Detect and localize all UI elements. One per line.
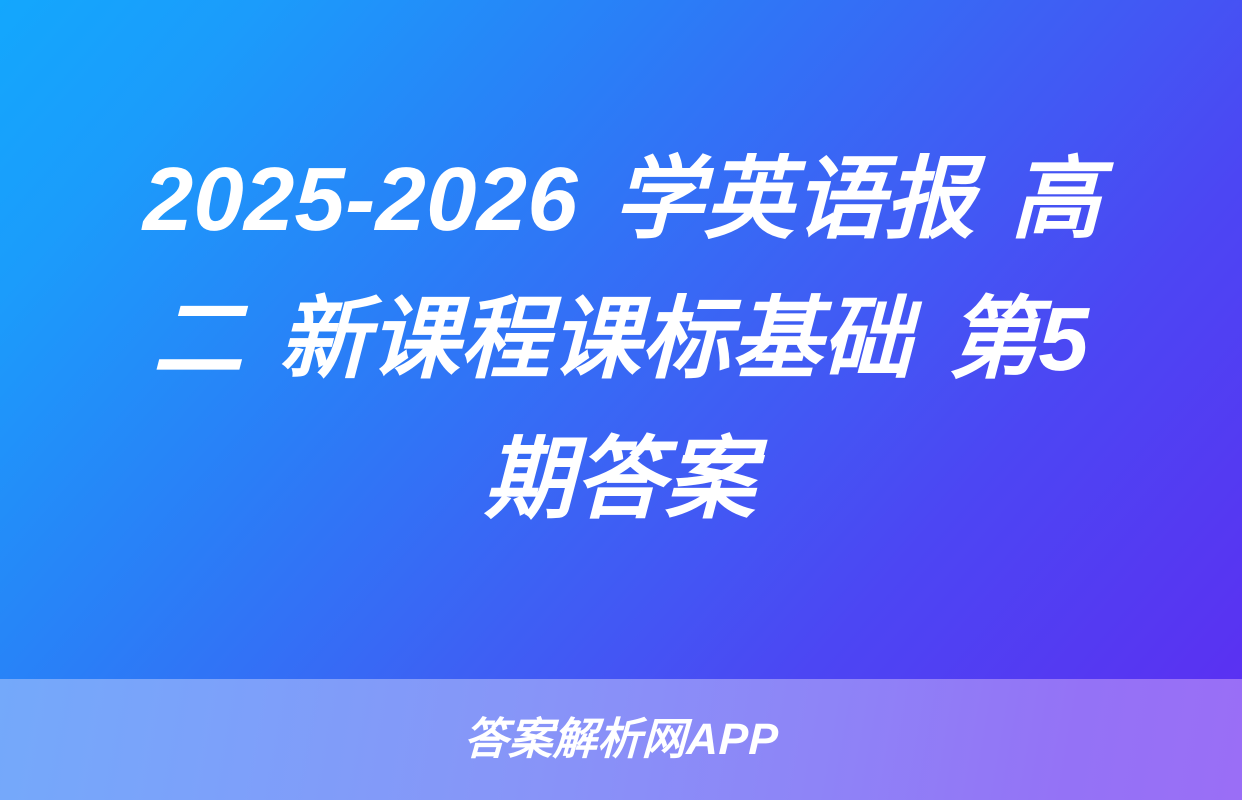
- watermark-band: 答案解析网APP: [0, 679, 1242, 800]
- page-title: 2025-2026 学英语报 高 二 新课程课标基础 第5 期答案: [72, 130, 1170, 550]
- page-title-line-3: 期答案: [484, 430, 756, 530]
- app-watermark-label: 答案解析网APP: [463, 716, 779, 764]
- page-title-line-2: 二 新课程课标基础 第5: [153, 290, 1090, 390]
- hero-panel: 2025-2026 学英语报 高 二 新课程课标基础 第5 期答案: [0, 0, 1242, 679]
- page-title-line-1: 2025-2026 学英语报 高: [143, 150, 1102, 250]
- title-card: 2025-2026 学英语报 高 二 新课程课标基础 第5 期答案 答案解析网A…: [0, 0, 1242, 800]
